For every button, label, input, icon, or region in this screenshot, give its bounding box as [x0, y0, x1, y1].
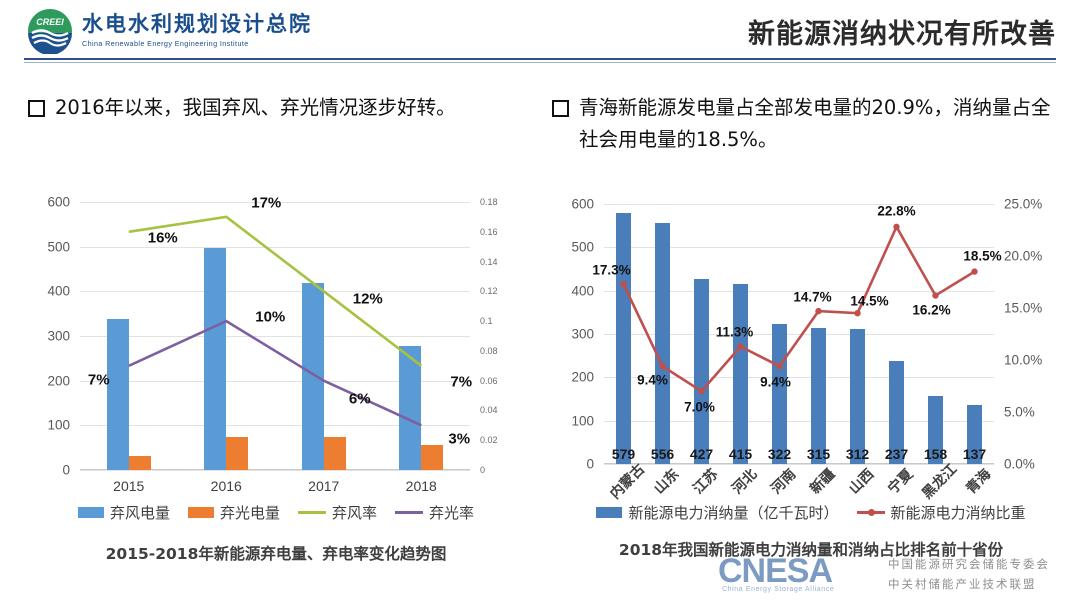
header-divider-thin	[24, 62, 1056, 63]
y-axis-tick-left: 300	[24, 329, 70, 344]
bullet-left-text: 2016年以来，我国弃风、弃光情况逐步好转。	[55, 92, 456, 124]
org-name-en: China Renewable Energy Engineering Insti…	[82, 39, 312, 48]
line-value-label: 14.5%	[850, 294, 888, 309]
bar-value-label: 579	[612, 446, 635, 462]
chart-right: 01002003004005006000.0%5.0%10.0%15.0%20.…	[552, 190, 1070, 590]
bar-right-新能源电力消纳量（亿千瓦时）-5	[811, 328, 826, 465]
bar-value-label: 137	[963, 446, 986, 462]
x-axis-label-5: 新疆	[805, 464, 839, 498]
org-name-cn: 水电水利规划设计总院	[82, 14, 312, 35]
chart-left-legend: 弃风电量弃光电量弃风率弃光率	[22, 502, 530, 523]
legend-item-弃光率: 弃光率	[395, 502, 474, 523]
square-bullet-icon	[28, 100, 45, 117]
line-value-label: 16.2%	[912, 302, 950, 317]
line-marker	[815, 308, 821, 314]
line-value-label: 9.4%	[760, 375, 791, 390]
bar-value-label: 415	[729, 446, 752, 462]
y-axis-tick-right: 0.14	[480, 257, 540, 267]
legend-label: 弃光电量	[220, 502, 280, 523]
y-axis-tick-left: 600	[24, 195, 70, 210]
page-header: CREEI 水电水利规划设计总院 China Renewable Energy …	[0, 0, 1080, 62]
y-axis-tick-right: 0.08	[480, 346, 540, 356]
y-axis-tick-right: 0.04	[480, 405, 540, 415]
bar-value-label: 237	[885, 446, 908, 462]
line-value-label: 7.0%	[684, 400, 715, 415]
bar-value-label: 312	[846, 446, 869, 462]
legend-swatch	[298, 511, 326, 514]
chart-right-legend: 新能源电力消纳量（亿千瓦时）新能源电力消纳比重	[552, 502, 1070, 523]
legend-label: 弃光率	[429, 502, 474, 523]
y-axis-tick-right: 0.16	[480, 227, 540, 237]
bar-left-弃风电量-1	[204, 248, 226, 470]
legend-swatch	[395, 511, 423, 514]
bullet-left: 2016年以来，我国弃风、弃光情况逐步好转。	[28, 92, 528, 124]
line-value-label: 7%	[450, 373, 472, 390]
bar-value-label: 158	[924, 446, 947, 462]
y-axis-tick-right: 5.0%	[1004, 405, 1064, 420]
watermark-cn-line2: 中关村储能产业技术联盟	[888, 576, 1037, 592]
bar-left-弃风电量-0	[107, 319, 129, 470]
legend-item-新能源电力消纳比重: 新能源电力消纳比重	[857, 502, 1026, 523]
y-axis-tick-right: 0.06	[480, 376, 540, 386]
chart-left: 010020030040050060000.020.040.060.080.10…	[22, 190, 530, 590]
line-marker	[971, 268, 977, 274]
legend-label: 弃风率	[332, 502, 377, 523]
x-axis-label-4: 河南	[766, 464, 800, 498]
page-title: 新能源消纳状况有所改善	[748, 12, 1056, 51]
watermark-cn-line1: 中国能源研究会储能专委会	[888, 556, 1050, 572]
line-value-label: 11.3%	[716, 325, 754, 340]
line-value-label: 17%	[251, 194, 281, 211]
bar-value-label: 556	[651, 446, 674, 462]
line-marker	[932, 292, 938, 298]
bar-right-新能源电力消纳量（亿千瓦时）-3	[733, 284, 748, 464]
legend-label: 新能源电力消纳量（亿千瓦时）	[628, 502, 838, 523]
y-axis-tick-right: 10.0%	[1004, 353, 1064, 368]
x-axis-label-1: 山东	[649, 464, 683, 498]
line-value-label: 9.4%	[637, 373, 668, 388]
line-value-label: 3%	[448, 431, 470, 448]
legend-item-弃风电量: 弃风电量	[78, 502, 170, 523]
y-axis-tick-left: 100	[24, 418, 70, 433]
bullet-right-text: 青海新能源发电量占全部发电量的20.9%，消纳量占全社会用电量的18.5%。	[579, 92, 1062, 156]
legend-swatch	[596, 507, 622, 518]
line-value-label: 10%	[255, 309, 285, 326]
bar-right-新能源电力消纳量（亿千瓦时）-6	[850, 329, 865, 464]
x-axis-label-7: 宁夏	[883, 464, 917, 498]
bar-right-新能源电力消纳量（亿千瓦时）-2	[694, 279, 709, 464]
legend-item-弃风率: 弃风率	[298, 502, 377, 523]
x-axis-label-8: 黑龙江	[917, 459, 961, 503]
y-axis-tick-right: 25.0%	[1004, 197, 1064, 212]
line-value-label: 22.8%	[877, 203, 915, 218]
x-axis-label-6: 山西	[844, 464, 878, 498]
bullet-right: 青海新能源发电量占全部发电量的20.9%，消纳量占全社会用电量的18.5%。	[552, 92, 1062, 156]
watermark-subtitle: China Energy Storage Alliance	[722, 586, 834, 593]
chart-left-caption: 2015-2018年新能源弃电量、弃电率变化趋势图	[22, 542, 530, 566]
x-axis-label-3: 河北	[727, 464, 761, 498]
line-marker	[854, 310, 860, 316]
legend-label: 弃风电量	[110, 502, 170, 523]
line-value-label: 6%	[349, 390, 371, 407]
legend-item-新能源电力消纳量（亿千瓦时）: 新能源电力消纳量（亿千瓦时）	[596, 502, 838, 523]
legend-item-弃光电量: 弃光电量	[188, 502, 280, 523]
y-axis-tick-left: 600	[548, 197, 594, 212]
bullet-row: 2016年以来，我国弃风、弃光情况逐步好转。 青海新能源发电量占全部发电量的20…	[0, 92, 1080, 178]
creei-logo-icon: CREEI	[26, 8, 74, 54]
cnesa-watermark: CNESA China Energy Storage Alliance 中国能源…	[718, 548, 1078, 606]
line-value-label: 12%	[353, 291, 383, 308]
line-marker	[893, 224, 899, 230]
y-axis-tick-left: 0	[24, 463, 70, 478]
bar-right-新能源电力消纳量（亿千瓦时）-0	[616, 213, 631, 464]
bar-value-label: 322	[768, 446, 791, 462]
org-logo: CREEI 水电水利规划设计总院 China Renewable Energy …	[26, 8, 312, 54]
legend-swatch	[857, 511, 885, 514]
y-axis-tick-left: 0	[548, 457, 594, 472]
x-axis-label-1: 2016	[211, 478, 242, 494]
y-axis-tick-right: 0	[480, 465, 540, 475]
y-axis-tick-right: 0.12	[480, 286, 540, 296]
y-axis-tick-left: 200	[24, 373, 70, 388]
y-axis-tick-right: 15.0%	[1004, 301, 1064, 316]
y-axis-tick-left: 200	[548, 370, 594, 385]
bar-left-弃风电量-3	[399, 346, 421, 470]
bar-left-弃光电量-1	[226, 437, 248, 470]
x-axis-label-2: 2017	[308, 478, 339, 494]
line-value-label: 7%	[88, 371, 110, 388]
x-axis-label-2: 江苏	[688, 464, 722, 498]
bar-value-label: 427	[690, 446, 713, 462]
y-axis-tick-left: 400	[24, 284, 70, 299]
y-axis-tick-left: 300	[548, 327, 594, 342]
bar-left-弃光电量-2	[324, 437, 346, 470]
line-value-label: 16%	[148, 229, 178, 246]
y-axis-tick-left: 500	[548, 240, 594, 255]
legend-swatch	[78, 507, 104, 518]
bar-left-弃风电量-2	[302, 283, 324, 470]
creei-logo-text: CREEI	[36, 17, 64, 27]
line-value-label: 14.7%	[793, 290, 831, 305]
bar-left-弃光电量-3	[421, 445, 443, 470]
y-axis-tick-left: 400	[548, 283, 594, 298]
bar-value-label: 315	[807, 446, 830, 462]
chart-left-plot-area: 010020030040050060000.020.040.060.080.10…	[80, 202, 470, 470]
legend-label: 新能源电力消纳比重	[891, 502, 1026, 523]
y-axis-tick-right: 0.02	[480, 435, 540, 445]
bar-right-新能源电力消纳量（亿千瓦时）-1	[655, 223, 670, 464]
x-axis-label-9: 青海	[961, 464, 995, 498]
x-axis-label-3: 2018	[406, 478, 437, 494]
y-axis-tick-right: 0.0%	[1004, 457, 1064, 472]
bar-left-弃光电量-0	[129, 456, 151, 470]
x-axis-label-0: 内蒙古	[605, 459, 649, 503]
y-axis-tick-left: 100	[548, 413, 594, 428]
y-axis-tick-right: 20.0%	[1004, 249, 1064, 264]
line-value-label: 17.3%	[592, 263, 630, 278]
y-axis-tick-right: 0.1	[480, 316, 540, 326]
x-axis-label-0: 2015	[113, 478, 144, 494]
bar-right-新能源电力消纳量（亿千瓦时）-4	[772, 324, 787, 464]
y-axis-tick-right: 0.18	[480, 197, 540, 207]
y-axis-tick-left: 500	[24, 239, 70, 254]
square-bullet-icon	[552, 100, 569, 117]
legend-swatch	[188, 507, 214, 518]
header-divider	[24, 58, 1056, 60]
chart-right-plot-area: 01002003004005006000.0%5.0%10.0%15.0%20.…	[604, 204, 994, 464]
line-value-label: 18.5%	[963, 248, 1001, 263]
